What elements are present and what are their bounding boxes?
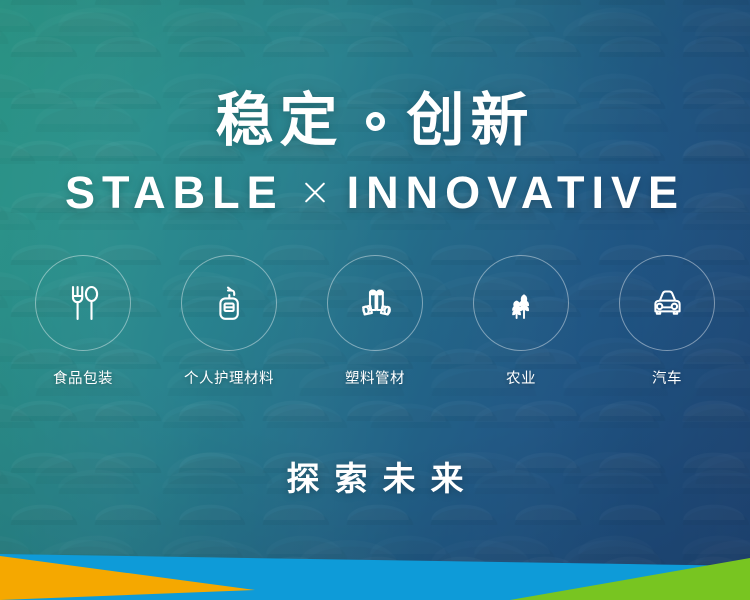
subheadline: STABLE INNOVATIVE (0, 170, 750, 215)
category-icon-circle (473, 255, 569, 351)
subheadline-left-text: STABLE (65, 170, 284, 215)
subheadline-right-text: INNOVATIVE (347, 170, 685, 215)
category-item-plastic-pipes[interactable]: 塑料管材 (302, 255, 448, 387)
wheat-icon (498, 280, 544, 326)
tagline: 探索未来 (0, 462, 750, 495)
promo-banner: 稳定 创新 STABLE INNOVATIVE 食 (0, 0, 750, 600)
bottom-wave-decoration (0, 530, 750, 600)
pump-bottle-icon (206, 280, 252, 326)
category-item-personal-care[interactable]: 个人护理材料 (156, 255, 302, 387)
category-icon-circle (619, 255, 715, 351)
cross-separator-icon (302, 179, 329, 206)
fork-spoon-icon (60, 280, 106, 326)
banner-content: 稳定 创新 STABLE INNOVATIVE 食 (0, 0, 750, 600)
category-icon-circle (181, 255, 277, 351)
headline-right-text: 创新 (407, 92, 535, 150)
category-label: 个人护理材料 (184, 372, 274, 387)
headline: 稳定 创新 (0, 92, 750, 150)
category-label: 食品包装 (53, 372, 113, 387)
ring-separator-icon (366, 112, 385, 131)
car-icon (643, 279, 691, 327)
category-icon-circle (327, 255, 423, 351)
category-label: 农业 (506, 372, 536, 387)
category-item-agriculture[interactable]: 农业 (448, 255, 594, 387)
pipes-icon (352, 280, 398, 326)
category-label: 汽车 (652, 372, 682, 387)
category-item-food-packaging[interactable]: 食品包装 (10, 255, 156, 387)
category-icon-circle (35, 255, 131, 351)
category-label: 塑料管材 (345, 372, 405, 387)
category-icon-row: 食品包装 个人护理材料 (0, 255, 750, 387)
headline-left-text: 稳定 (215, 92, 343, 150)
category-item-automotive[interactable]: 汽车 (594, 255, 740, 387)
